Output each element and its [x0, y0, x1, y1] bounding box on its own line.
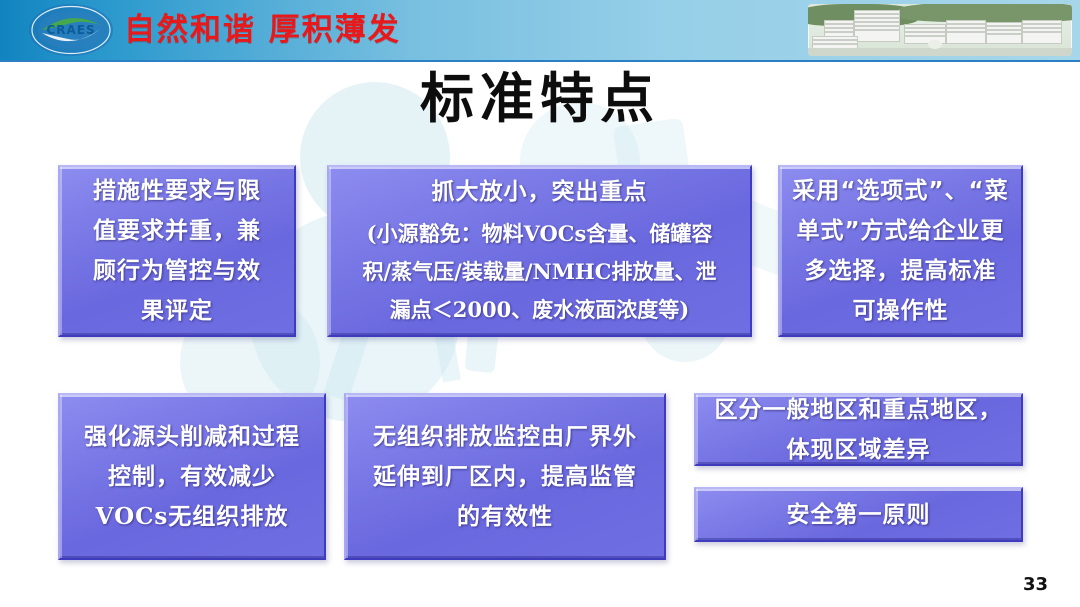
box-line: 的有效性: [457, 497, 553, 537]
header-band: CRAES 自然和谐 厚积薄发: [0, 0, 1080, 60]
box-line: 安全第一原则: [787, 495, 931, 535]
box-line: 体现区域差异: [787, 430, 931, 470]
box-line: 采用“选项式”、“菜: [792, 171, 1008, 211]
fugitive-monitoring-box: 无组织排放监控由厂界外 延伸到厂区内，提高监管 的有效性: [344, 393, 666, 560]
box-line: (小源豁免：物料VOCs含量、储罐容: [367, 215, 713, 253]
campus-photo: [808, 4, 1072, 56]
page-number: 33: [1023, 574, 1048, 595]
box-line: 积/蒸气压/装载量/NMHC排放量、泄: [362, 253, 716, 291]
box-line: 多选择，提高标准: [805, 251, 997, 291]
measures-and-limits-box: 措施性要求与限 值要求并重，兼 顾行为管控与效 果评定: [58, 165, 296, 337]
box-line: 无组织排放监控由厂界外: [373, 417, 637, 457]
header-divider: [0, 60, 1080, 62]
box-line: VOCs无组织排放: [96, 497, 289, 537]
box-line: 漏点＜2000、废水液面浓度等): [390, 291, 689, 329]
page-title: 标准特点: [0, 66, 1080, 130]
source-reduction-box: 强化源头削减和过程 控制，有效减少 VOCs无组织排放: [58, 393, 326, 560]
optional-menu-style-box: 采用“选项式”、“菜 单式”方式给企业更 多选择，提高标准 可操作性: [778, 165, 1023, 337]
box-line: 区分一般地区和重点地区，: [715, 390, 1003, 430]
box-heading: 抓大放小，突出重点: [432, 173, 648, 211]
focus-on-key-sources-box: 抓大放小，突出重点 (小源豁免：物料VOCs含量、储罐容 积/蒸气压/装载量/N…: [327, 165, 752, 337]
box-line: 措施性要求与限: [93, 171, 261, 211]
regional-difference-box: 区分一般地区和重点地区， 体现区域差异: [694, 393, 1023, 466]
header-slogan: 自然和谐 厚积薄发: [124, 10, 401, 50]
box-line: 延伸到厂区内，提高监管: [373, 457, 637, 497]
box-line: 强化源头削减和过程: [84, 417, 300, 457]
slide-canvas: CRAES 自然和谐 厚积薄发 标准特点 措施性要求与限 值要求并重，兼 顾行为…: [0, 0, 1080, 607]
box-line: 顾行为管控与效: [93, 251, 261, 291]
box-line: 果评定: [141, 291, 213, 331]
box-line: 值要求并重，兼: [93, 211, 261, 251]
box-line: 单式”方式给企业更: [796, 211, 1004, 251]
box-line: 控制，有效减少: [108, 457, 276, 497]
safety-first-box: 安全第一原则: [694, 487, 1023, 542]
box-line: 可操作性: [853, 291, 949, 331]
svg-text:CRAES: CRAES: [46, 23, 95, 37]
craes-logo-icon: CRAES: [28, 3, 114, 57]
